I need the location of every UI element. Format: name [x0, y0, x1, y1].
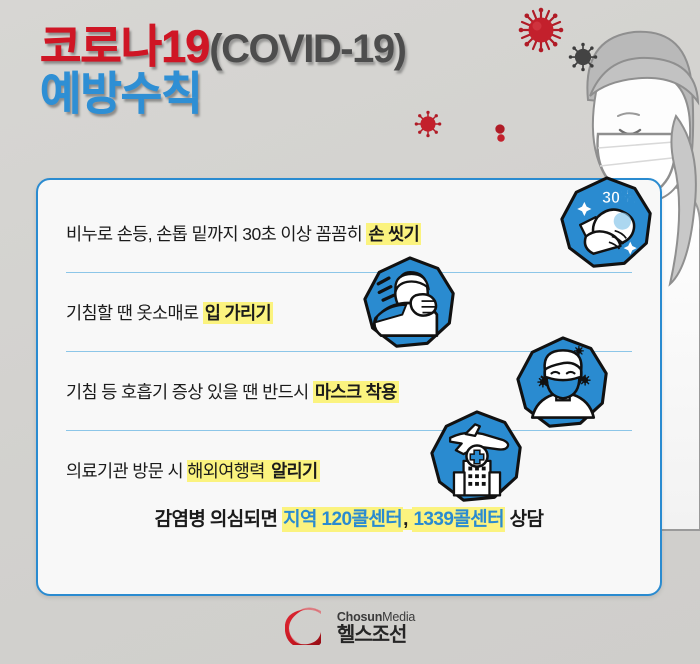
chosun-media-logo: ChosunMedia 헬스조선 — [0, 605, 700, 650]
rule-text: 비누로 손등, 손톱 밑까지 30초 이상 꼼꼼히 손 씻기 — [66, 221, 421, 246]
rule-text-normal: 비누로 손등, 손톱 밑까지 30초 이상 꼼꼼히 — [66, 224, 366, 244]
rules-list: 비누로 손등, 손톱 밑까지 30초 이상 꼼꼼히 손 씻기 — [38, 194, 660, 509]
rule-row: 기침할 땐 옷소매로 입 가리기 — [66, 273, 632, 352]
call-center-local: 지역 120콜센터 — [282, 507, 403, 532]
rule-text-highlight-plain: 해외여행력 — [187, 460, 269, 482]
handwash-icon: 30초 — [559, 175, 655, 276]
logo-brand-chosun: Chosun — [337, 610, 382, 624]
title-korean-blue: 예방수칙 — [40, 68, 202, 119]
infographic-poster: 코로나19(COVID-19) 예방수칙 비누로 손등, 손톱 밑까지 30초 … — [0, 0, 700, 664]
rule-text-highlight: 알리기 — [269, 460, 320, 482]
title-english-gray: (COVID-19) — [209, 27, 405, 71]
rule-text-highlight: 마스크 착용 — [313, 381, 399, 403]
call-center-line: 감염병 의심되면 지역 120콜센터, 1339콜센터 상담 — [38, 504, 660, 531]
rule-text: 기침 등 호흡기 증상 있을 땐 반드시 마스크 착용 — [66, 379, 399, 404]
rule-text-highlight: 손 씻기 — [366, 223, 421, 245]
chosun-swoosh-icon — [285, 605, 329, 650]
rule-text-normal: 의료기관 방문 시 — [66, 461, 187, 481]
call-prefix: 감염병 의심되면 — [155, 509, 283, 530]
rule-row: 의료기관 방문 시 해외여행력 알리기 — [66, 431, 632, 509]
rule-text-highlight: 입 가리기 — [203, 302, 273, 324]
handwash-duration-badge: 30초 — [602, 189, 635, 207]
prevention-rules-card: 비누로 손등, 손톱 밑까지 30초 이상 꼼꼼히 손 씻기 — [36, 178, 662, 596]
virus-particle-icon — [568, 42, 598, 77]
rule-row: 기침 등 호흡기 증상 있을 땐 반드시 마스크 착용 — [66, 352, 632, 431]
call-suffix: 상담 — [505, 509, 543, 530]
title-korean-red: 코로나19 — [40, 21, 209, 72]
poster-title: 코로나19(COVID-19) 예방수칙 — [40, 24, 560, 116]
rule-text-normal: 기침할 땐 옷소매로 — [66, 303, 203, 323]
logo-text: ChosunMedia 헬스조선 — [337, 609, 415, 647]
logo-brand-media: Media — [382, 610, 415, 624]
rule-text: 기침할 땐 옷소매로 입 가리기 — [66, 300, 273, 325]
rule-text: 의료기관 방문 시 해외여행력 알리기 — [66, 458, 320, 483]
virus-particle-icon — [496, 130, 506, 148]
rule-text-normal: 기침 등 호흡기 증상 있을 땐 반드시 — [66, 382, 313, 402]
logo-brand-ko: 헬스조선 — [337, 624, 407, 646]
call-center-1339: 1339콜센터 — [412, 507, 505, 532]
logo-brand-en: ChosunMedia — [337, 610, 415, 624]
rule-row: 비누로 손등, 손톱 밑까지 30초 이상 꼼꼼히 손 씻기 — [66, 194, 632, 273]
